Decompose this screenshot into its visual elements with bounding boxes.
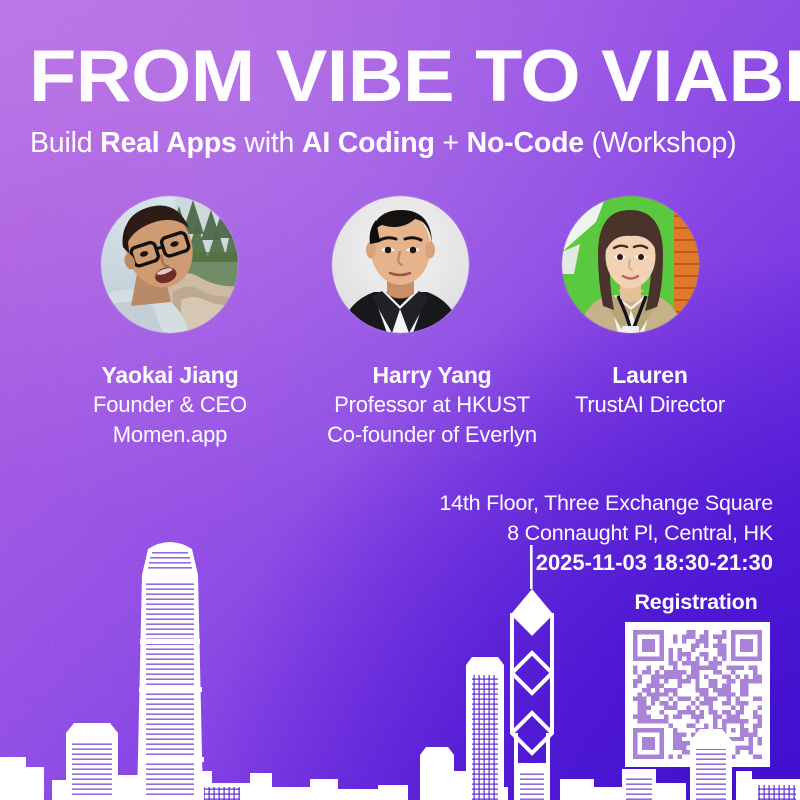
speaker-photo-2 xyxy=(562,196,699,333)
event-datetime: 2025-11-03 18:30-21:30 xyxy=(439,548,773,578)
avatar xyxy=(562,196,699,333)
venue-line-2: 8 Connaught Pl, Central, HK xyxy=(439,519,773,549)
speaker-name-block-0: Yaokai Jiang Founder & CEO Momen.app xyxy=(40,360,300,449)
avatar xyxy=(101,196,238,333)
registration-label: Registration xyxy=(616,590,776,615)
qr-code-icon xyxy=(633,630,762,759)
speaker-name: Yaokai Jiang xyxy=(40,360,300,390)
speaker-role: Momen.app xyxy=(40,420,300,449)
speaker-role: Co-founder of Everlyn xyxy=(272,420,592,449)
subtitle: Build Real Apps with AI Coding + No-Code… xyxy=(30,127,775,161)
subtitle-text: Build Real Apps with AI Coding + No-Code… xyxy=(30,127,736,159)
registration-qr-code[interactable] xyxy=(625,622,770,767)
speaker-photo-row xyxy=(0,196,800,356)
speaker-name-block-2: Lauren TrustAI Director xyxy=(520,360,780,420)
venue-block: 14th Floor, Three Exchange Square 8 Conn… xyxy=(439,489,773,579)
venue-line-1: 14th Floor, Three Exchange Square xyxy=(439,489,773,519)
speaker-names-row: Yaokai Jiang Founder & CEO Momen.app Har… xyxy=(0,360,800,460)
speaker-role: TrustAI Director xyxy=(520,390,780,419)
speaker-photo-0 xyxy=(101,196,238,333)
registration-block: Registration xyxy=(616,590,776,767)
speaker-role: Founder & CEO xyxy=(40,390,300,419)
speaker-name: Lauren xyxy=(520,360,780,390)
page-title: FROM VIBE TO VIABLE xyxy=(29,40,800,113)
event-poster: FROM VIBE TO VIABLE Build Real Apps with… xyxy=(0,0,800,800)
speaker-photo-1 xyxy=(332,196,469,333)
avatar xyxy=(332,196,469,333)
